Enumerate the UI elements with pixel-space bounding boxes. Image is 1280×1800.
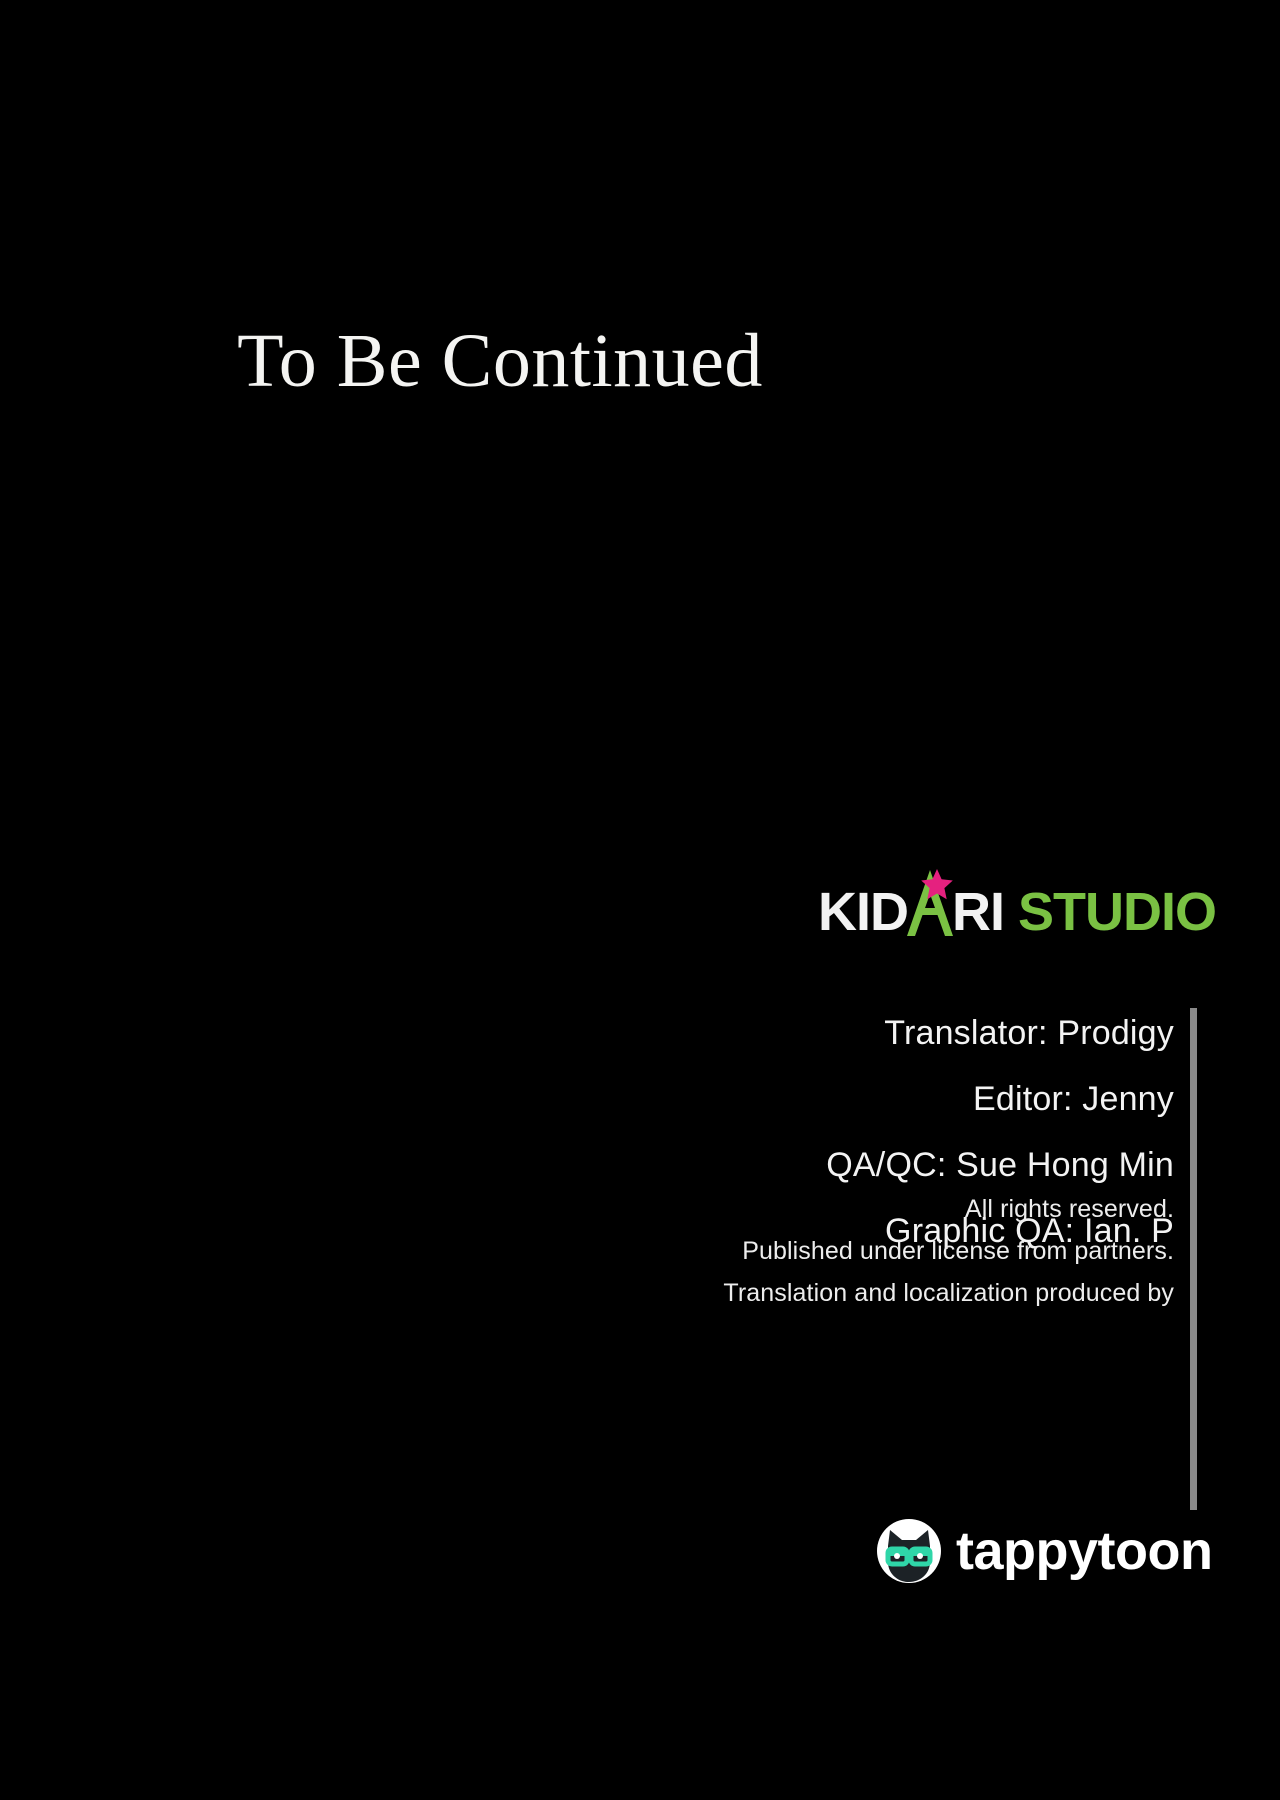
kidari-studio-text: STUDIO	[1018, 883, 1216, 941]
credit-line-editor: Editor: Jenny	[560, 1066, 1174, 1132]
rights-line-license: Published under license from partners.	[460, 1230, 1174, 1272]
rights-line-produced-by: Translation and localization produced by	[460, 1272, 1174, 1314]
kidari-letter-a	[908, 872, 952, 930]
credits-divider	[1190, 1008, 1197, 1510]
kidari-studio-logo: KID RI STUDIO	[818, 826, 1190, 930]
cat-face-glasses-icon	[876, 1518, 942, 1584]
credit-line-translator: Translator: Prodigy	[560, 1000, 1174, 1066]
rights-block: All rights reserved. Published under lic…	[460, 1188, 1174, 1314]
tappytoon-wordmark: tappytoon	[956, 1524, 1212, 1578]
kidari-studio-wordmark: KID RI STUDIO	[818, 872, 1216, 930]
kidari-ri-text: RI	[952, 883, 1004, 941]
pink-star-icon	[920, 868, 954, 902]
rights-line-all-rights: All rights reserved.	[460, 1188, 1174, 1230]
to-be-continued-title: To Be Continued	[0, 318, 1000, 405]
tappytoon-logo: tappytoon	[876, 1518, 1212, 1584]
end-card-page: To Be Continued KID RI STUDIO Translator…	[0, 0, 1280, 1800]
kidari-kid-text: KID	[818, 883, 908, 941]
